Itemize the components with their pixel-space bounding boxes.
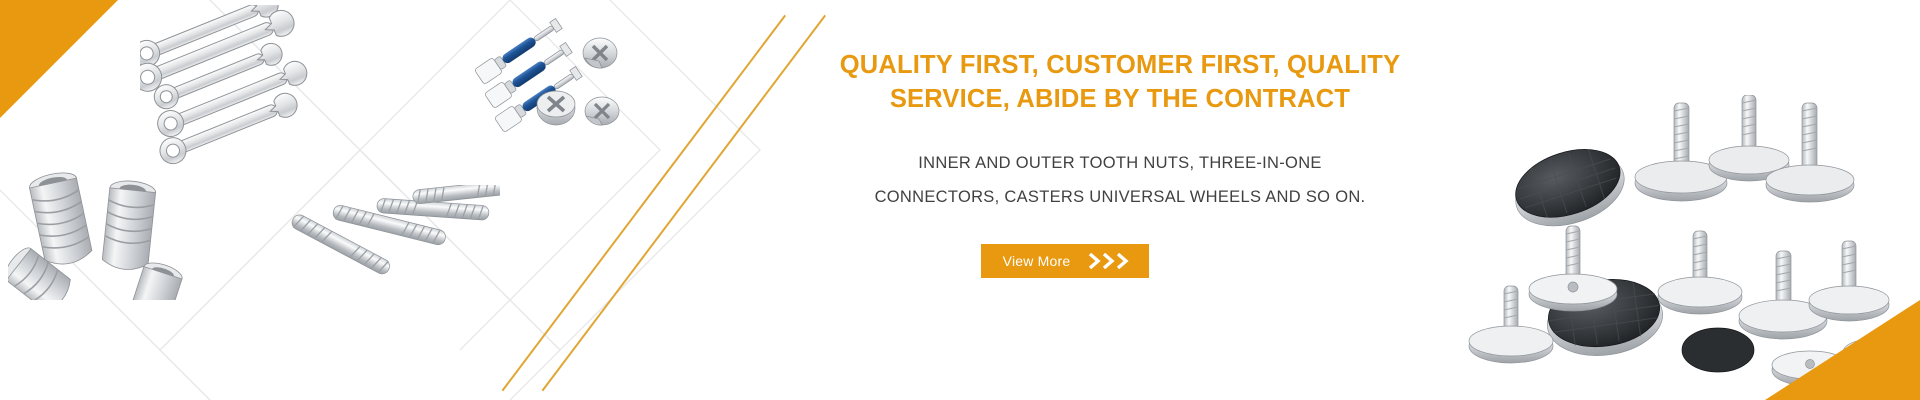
threaded-insert-photo — [8, 160, 183, 300]
cta-row: View More — [800, 214, 1440, 278]
promo-banner: QUALITY FIRST, CUSTOMER FIRST, QUALITY S… — [0, 0, 1920, 400]
subtitle-line-2: CONNECTORS, CASTERS UNIVERSAL WHEELS AND… — [800, 180, 1440, 214]
chevron-right-icon — [1102, 253, 1115, 269]
chevron-right-icon-group — [1088, 253, 1129, 269]
headline-line-1: QUALITY FIRST, CUSTOMER FIRST, QUALITY — [840, 51, 1401, 79]
wrench-set-photo — [140, 5, 370, 170]
banner-content: QUALITY FIRST, CUSTOMER FIRST, QUALITY S… — [800, 48, 1440, 278]
view-more-button[interactable]: View More — [981, 244, 1150, 278]
banner-headline: QUALITY FIRST, CUSTOMER FIRST, QUALITY S… — [800, 48, 1440, 116]
view-more-label: View More — [1003, 253, 1071, 269]
corner-triangle-top-left — [0, 0, 118, 118]
subtitle-line-1: INNER AND OUTER TOOTH NUTS, THREE-IN-ONE — [918, 154, 1321, 172]
banner-subtitle: INNER AND OUTER TOOTH NUTS, THREE-IN-ONE… — [800, 146, 1440, 214]
dowel-screw-photo — [285, 185, 500, 310]
chevron-right-icon — [1088, 253, 1101, 269]
cam-lock-connector-photo — [465, 18, 645, 143]
corner-triangle-bottom-right — [1765, 300, 1920, 400]
chevron-right-icon — [1116, 253, 1129, 269]
headline-line-2: SERVICE, ABIDE BY THE CONTRACT — [890, 85, 1350, 113]
